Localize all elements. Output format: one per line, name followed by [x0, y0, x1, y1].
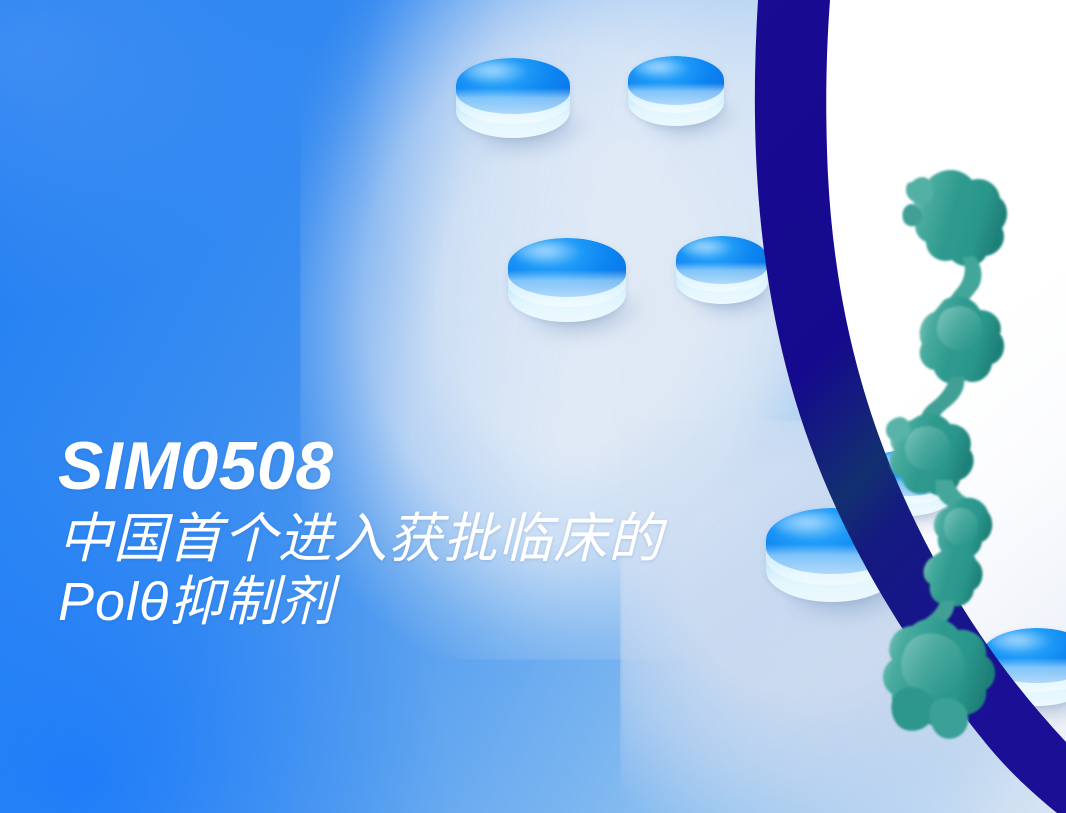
protein-ribbon-structure: [0, 0, 1066, 813]
poster-canvas: SIM0508 中国首个进入获批临床的 Polθ抑制剂: [0, 0, 1066, 813]
headline-subtitle-line-2: Polθ抑制剂: [58, 571, 848, 634]
headline-subtitle-line-1: 中国首个进入获批临床的: [58, 508, 848, 571]
headline-subtitle: 中国首个进入获批临床的 Polθ抑制剂: [58, 508, 848, 634]
page-title: SIM0508: [58, 432, 848, 500]
headline-block: SIM0508 中国首个进入获批临床的 Polθ抑制剂: [58, 432, 848, 634]
